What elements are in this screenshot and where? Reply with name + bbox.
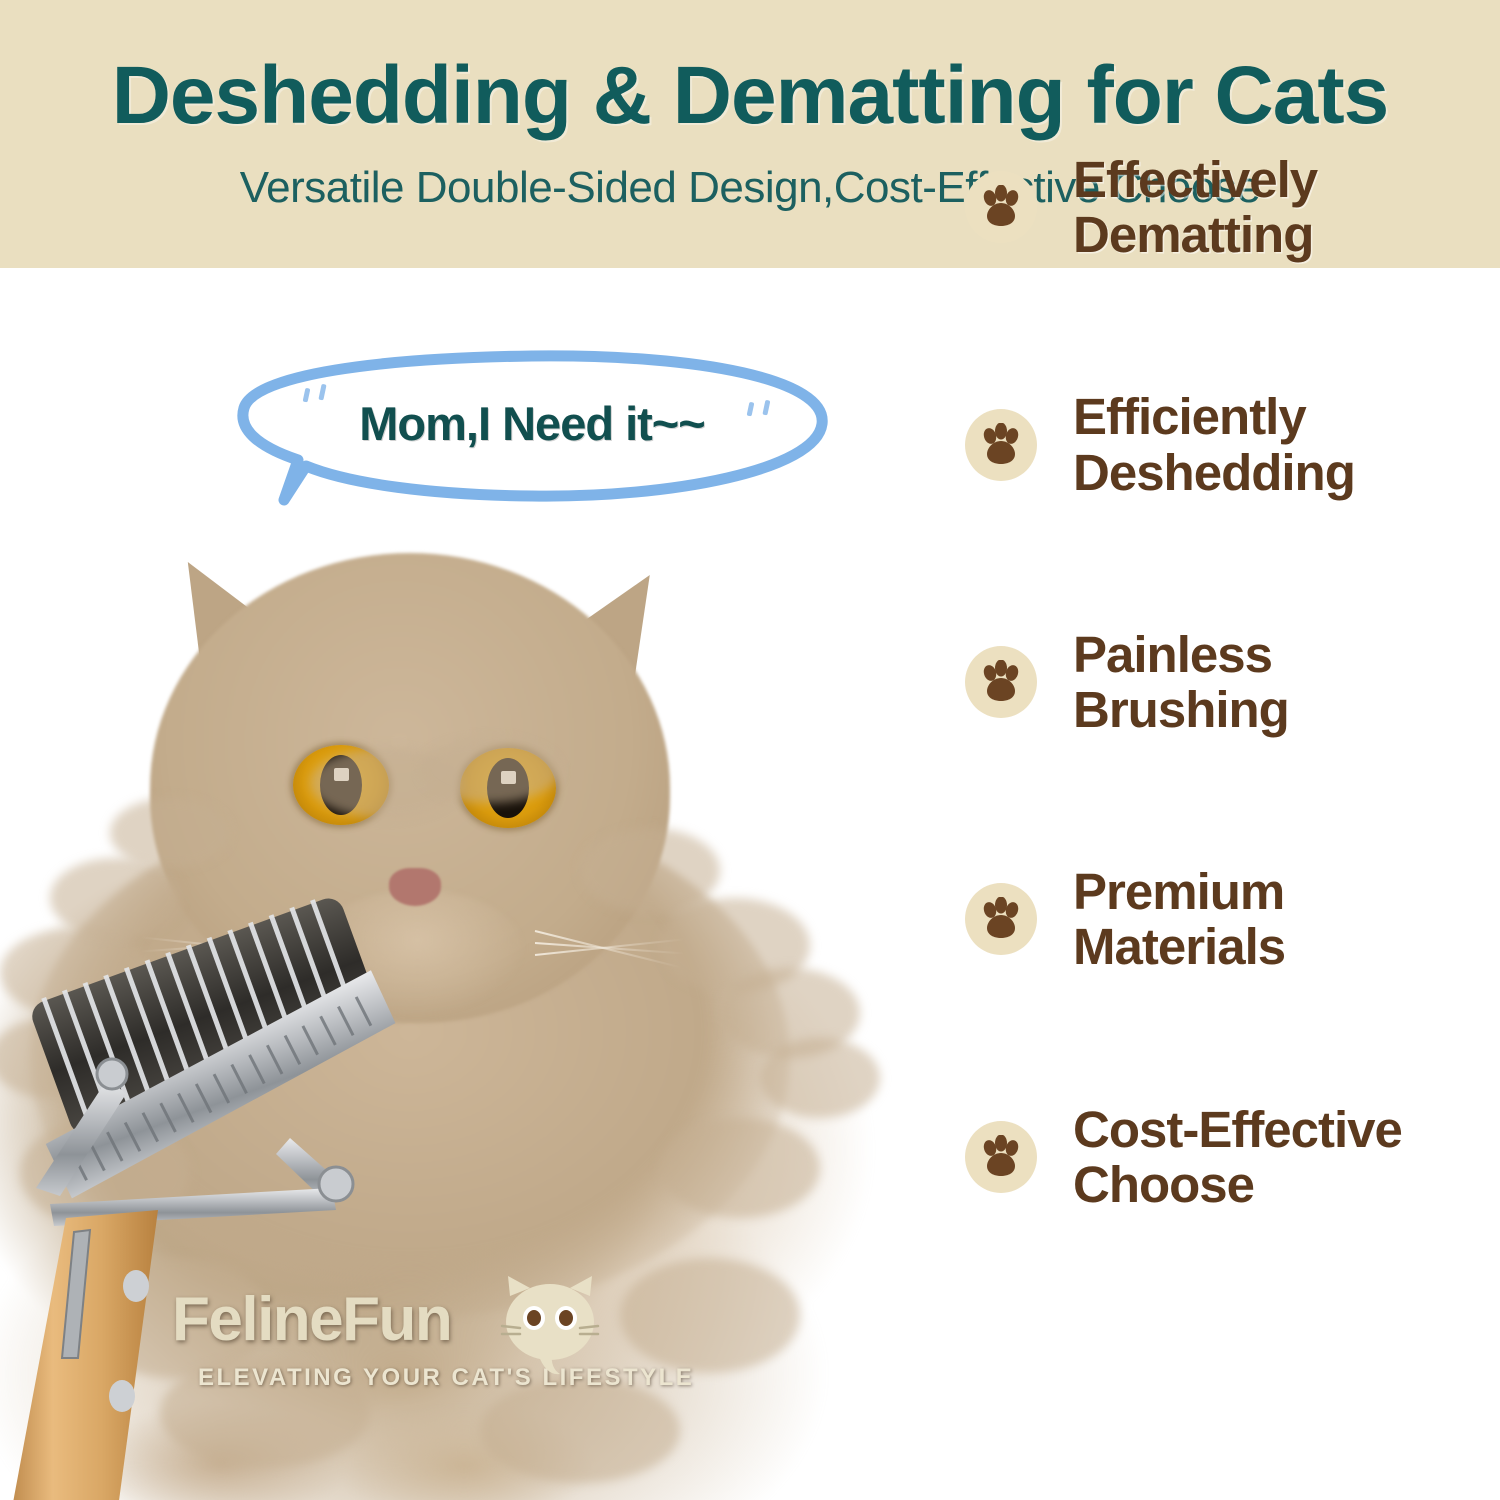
feature-label: Cost-Effective Choose <box>1073 1102 1402 1212</box>
feature-label-line2: Brushing <box>1073 682 1289 737</box>
feature-item-cost-effective: Cost-Effective Choose <box>965 1102 1500 1212</box>
feature-item-brushing: Painless Brushing <box>965 627 1500 737</box>
fur-wisp <box>660 1118 820 1218</box>
paw-icon <box>965 171 1037 243</box>
brand-logo: FelineFun ELEVATING YOUR CAT'S LIFESTYLE <box>172 1278 592 1418</box>
feature-label-line2: Dematting <box>1073 207 1317 262</box>
feature-label: Premium Materials <box>1073 864 1285 974</box>
paw-icon <box>965 1121 1037 1193</box>
feature-label: Painless Brushing <box>1073 627 1289 737</box>
paw-icon <box>965 883 1037 955</box>
fur-wisp <box>580 828 720 913</box>
brand-name: FelineFun <box>172 1284 451 1355</box>
feature-label: Effectively Dematting <box>1073 152 1317 262</box>
paw-icon <box>965 646 1037 718</box>
feature-label-line1: Premium <box>1073 864 1285 919</box>
fur-wisp <box>620 1258 800 1373</box>
feature-label-line2: Materials <box>1073 919 1285 974</box>
feature-label-line1: Painless <box>1073 627 1289 682</box>
feature-item-dematting: Effectively Dematting <box>965 152 1500 262</box>
feature-item-materials: Premium Materials <box>965 864 1500 974</box>
feature-label-line1: Efficiently <box>1073 389 1355 444</box>
page-title: Deshedding & Dematting for Cats <box>112 55 1389 137</box>
fur-wisp <box>110 798 230 868</box>
speech-bubble: Mom,I Need it~~ <box>232 348 832 518</box>
feature-label-line1: Effectively <box>1073 152 1317 207</box>
paw-icon <box>965 409 1037 481</box>
fur-wisp <box>420 738 560 803</box>
feature-label-line1: Cost-Effective <box>1073 1102 1402 1157</box>
fur-wisp <box>760 1038 880 1118</box>
feature-label: Efficiently Deshedding <box>1073 389 1355 499</box>
cat-head-icon <box>494 1270 606 1382</box>
feature-list: Effectively Dematting Efficiently Deshed… <box>965 152 1500 1212</box>
brand-tagline: ELEVATING YOUR CAT'S LIFESTYLE <box>198 1364 694 1392</box>
feature-item-deshedding: Efficiently Deshedding <box>965 389 1500 499</box>
feature-label-line2: Deshedding <box>1073 445 1355 500</box>
speech-bubble-text: Mom,I Need it~~ <box>232 348 832 498</box>
feature-label-line2: Choose <box>1073 1157 1402 1212</box>
